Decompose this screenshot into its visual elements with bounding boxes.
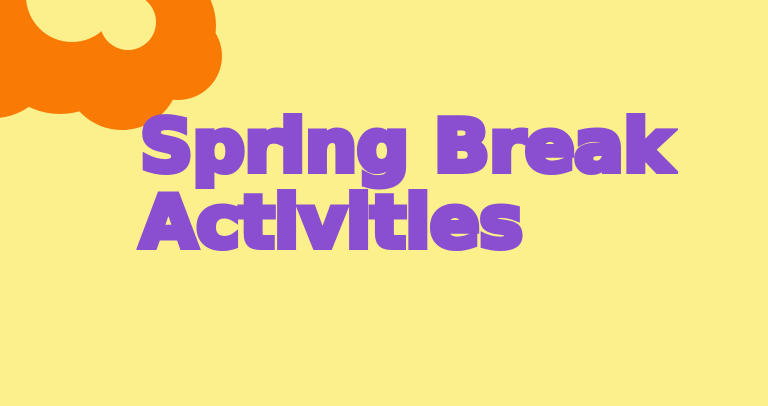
poster-canvas: Spring Break Activities xyxy=(0,0,768,406)
page-title: Spring Break Activities xyxy=(140,112,700,257)
title-line-1: Spring Break xyxy=(140,112,711,180)
title-line-2: Activities xyxy=(140,188,711,256)
